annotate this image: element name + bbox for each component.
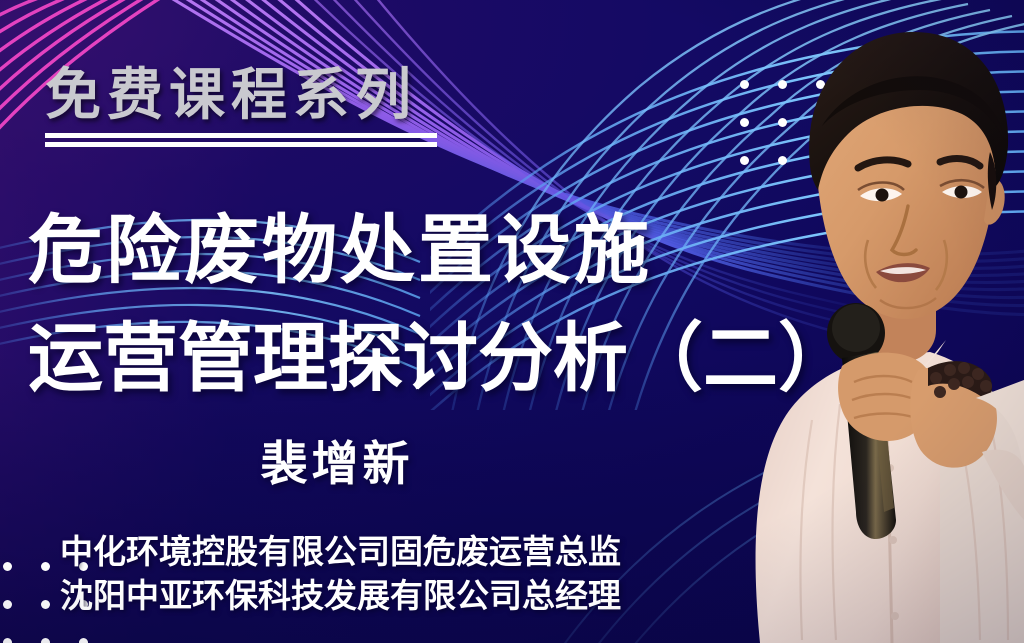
kicker-text: 免费课程系列 (45, 50, 417, 131)
grid-dot (3, 562, 12, 571)
title-line-2: 运营管理探讨分析（二） (28, 304, 768, 412)
rule-bar-bottom (45, 142, 437, 147)
rule-bar-top (45, 133, 437, 138)
title-line-1: 危险废物处置设施 (28, 196, 768, 304)
affiliation-line: 沈阳中亚环保科技发展有限公司总经理 (60, 574, 700, 618)
grid-dot (3, 638, 12, 643)
speaker-affiliations: 中化环境控股有限公司固危废运营总监 沈阳中亚环保科技发展有限公司总经理 (60, 530, 700, 617)
grid-dot (79, 638, 88, 643)
page-title: 危险废物处置设施 运营管理探讨分析（二） (28, 196, 768, 412)
course-poster: 免费课程系列 危险废物处置设施 运营管理探讨分析（二） 裴增新 中化环境控股有限… (0, 0, 1024, 643)
speaker-name: 裴增新 (261, 425, 414, 494)
speaker-block: 裴增新 (0, 425, 692, 494)
double-white-rule (45, 133, 437, 147)
grid-dot (3, 600, 12, 609)
affiliation-line: 中化环境控股有限公司固危废运营总监 (60, 530, 700, 574)
grid-dot (41, 600, 50, 609)
grid-dot (41, 562, 50, 571)
grid-dot (41, 638, 50, 643)
